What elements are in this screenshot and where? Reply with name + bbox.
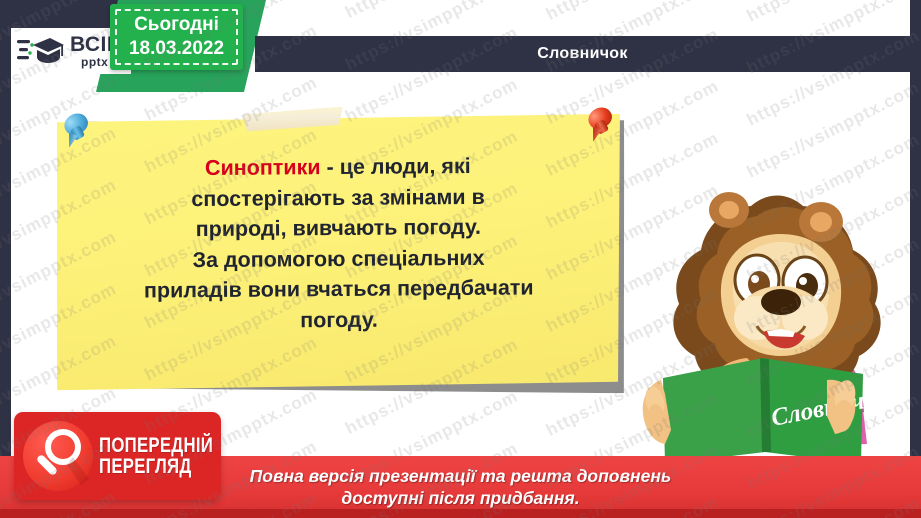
note-line-1: Синоптики - це люди, які xyxy=(205,151,471,184)
footer-line-1: Повна версія презентації та решта доповн… xyxy=(250,465,672,487)
pushpin-blue-icon xyxy=(60,112,94,150)
note-keyword: Синоптики xyxy=(205,155,321,180)
note-line-1-rest: - це люди, які xyxy=(320,154,470,179)
pushpin-red-icon xyxy=(584,106,618,144)
note-line-3: природі, вивчають погоду. xyxy=(196,212,482,245)
note-line-5: приладів вони вчаться передбачати xyxy=(144,273,534,307)
note-line-6: погоду. xyxy=(300,304,378,335)
footer-line-2: доступні після придбання. xyxy=(341,487,579,509)
preview-badge-line-1: ПОПЕРЕДНІЙ xyxy=(99,435,213,456)
today-date: 18.03.2022 xyxy=(129,37,224,61)
today-label: Сьогодні xyxy=(134,13,219,37)
note-line-2: спостерігають за змінами в xyxy=(191,181,485,214)
note-line-4: За допомогою спеціальних xyxy=(192,242,484,275)
slide-canvas: ВСІМ pptx Сьогодні 18.03.2022 Словничок xyxy=(0,0,921,518)
slide-title-bar: Словничок xyxy=(255,36,910,72)
left-edge-rail xyxy=(0,0,11,518)
definition-note: Синоптики - це люди, які спостерігають з… xyxy=(55,114,622,390)
right-edge-rail xyxy=(910,0,921,518)
today-date-badge: Сьогодні 18.03.2022 xyxy=(110,4,243,70)
page-title: Словничок xyxy=(537,45,627,63)
graduation-cap-icon xyxy=(17,34,65,68)
preview-badge-line-2: ПЕРЕГЛЯД xyxy=(99,456,213,477)
lion-reading-book-illustration: Словничок xyxy=(605,130,905,460)
magnifier-icon xyxy=(23,421,93,491)
preview-badge[interactable]: ПОПЕРЕДНІЙ ПЕРЕГЛЯД xyxy=(14,412,221,500)
